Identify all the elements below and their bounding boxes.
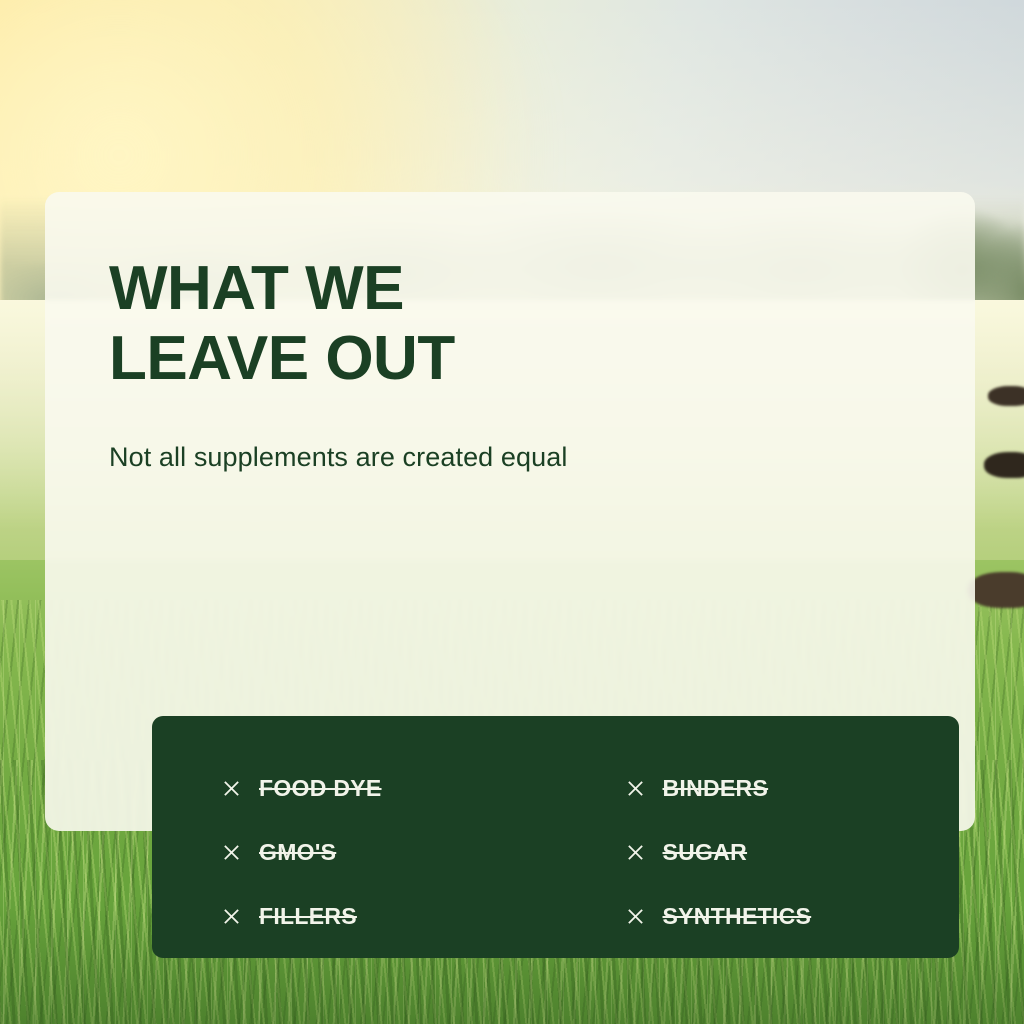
exclusion-label: GMO'S bbox=[259, 839, 336, 866]
list-item: SYNTHETICS bbox=[556, 884, 960, 948]
cow-icon bbox=[968, 572, 1024, 608]
cow-icon bbox=[988, 386, 1024, 406]
page-title: WHAT WE LEAVE OUT bbox=[109, 254, 911, 394]
exclusion-label: SYNTHETICS bbox=[663, 903, 812, 930]
list-item: FOOD DYE bbox=[152, 756, 556, 820]
list-item: GMO'S bbox=[152, 820, 556, 884]
x-mark-icon bbox=[222, 779, 241, 798]
exclusion-label: FOOD DYE bbox=[259, 775, 382, 802]
x-mark-icon bbox=[626, 843, 645, 862]
promo-graphic: WHAT WE LEAVE OUT Not all supplements ar… bbox=[0, 0, 1024, 1024]
content-card: WHAT WE LEAVE OUT Not all supplements ar… bbox=[45, 192, 975, 831]
x-mark-icon bbox=[626, 779, 645, 798]
exclusion-label: FILLERS bbox=[259, 903, 357, 930]
exclusion-label: BINDERS bbox=[663, 775, 769, 802]
subtitle: Not all supplements are created equal bbox=[109, 442, 911, 473]
exclusions-grid: FOOD DYE BINDERS GMO'S bbox=[152, 716, 959, 958]
x-mark-icon bbox=[222, 843, 241, 862]
x-mark-icon bbox=[626, 907, 645, 926]
list-item: BINDERS bbox=[556, 756, 960, 820]
exclusions-panel: FOOD DYE BINDERS GMO'S bbox=[152, 716, 959, 958]
x-mark-icon bbox=[222, 907, 241, 926]
cow-icon bbox=[984, 452, 1024, 478]
list-item: SUGAR bbox=[556, 820, 960, 884]
list-item: FILLERS bbox=[152, 884, 556, 948]
exclusion-label: SUGAR bbox=[663, 839, 748, 866]
